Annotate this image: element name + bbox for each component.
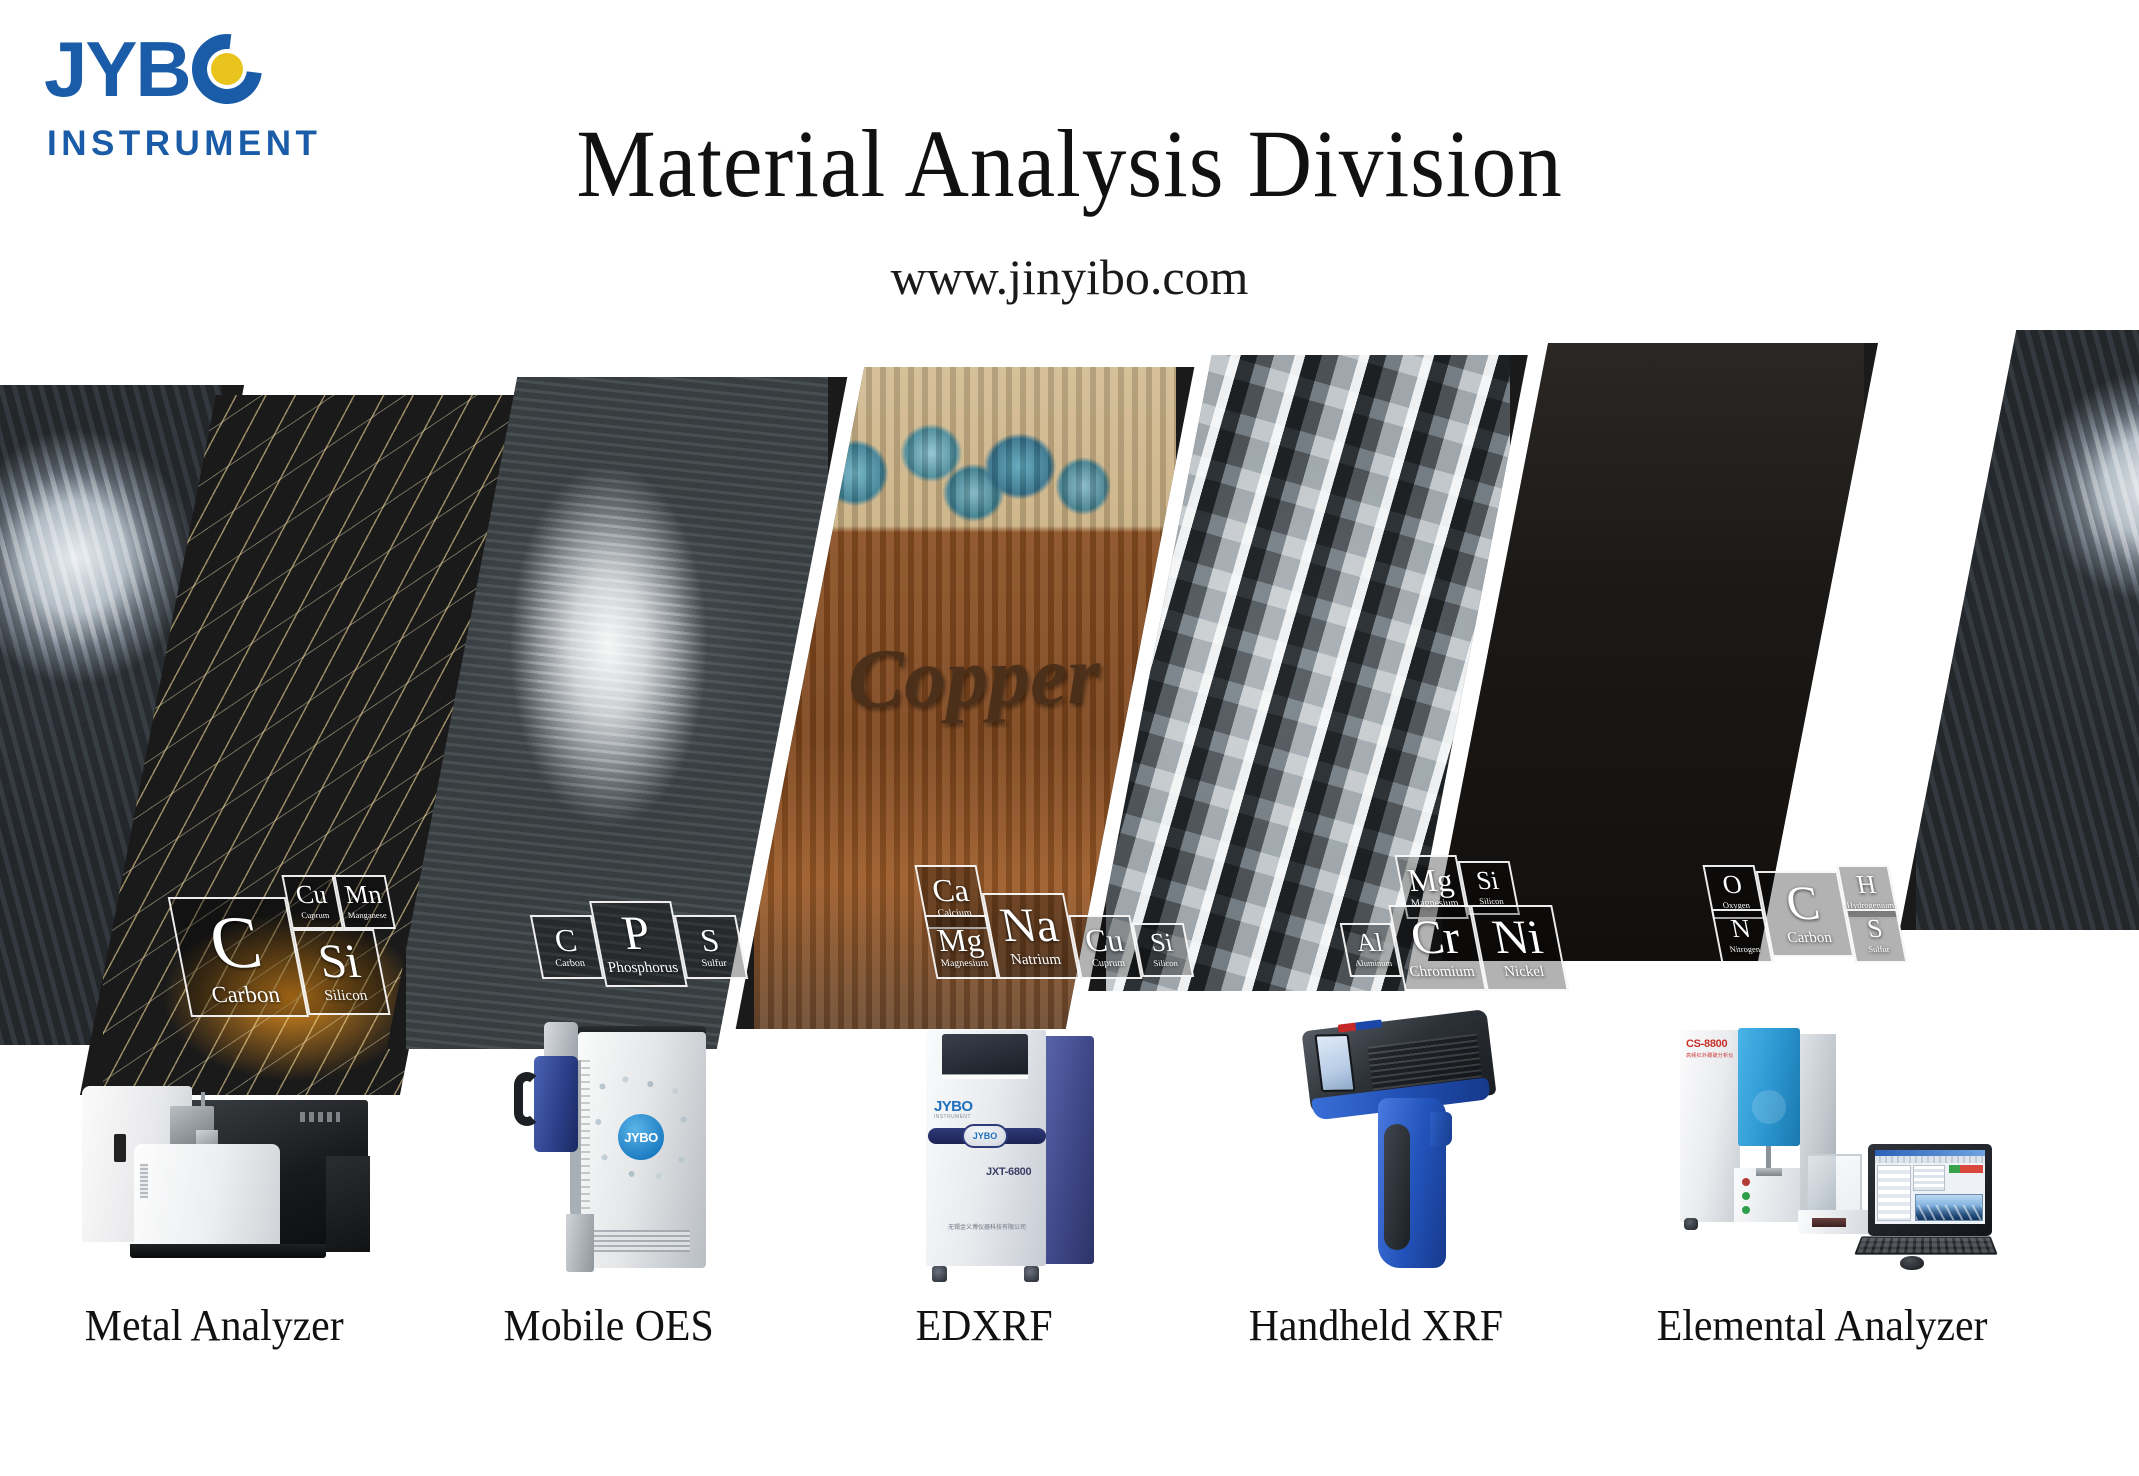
caption-handheld-xrf: Handheld XRF [1249,1300,1503,1351]
product-edxrf: JYBO INSTRUMENT JYBO JXT-6800 无锡金义博仪器科技有… [908,1020,1108,1282]
element-name: Nickel [1503,965,1546,980]
caption-metal-analyzer: Metal Analyzer [85,1300,344,1351]
balance-display [1812,1218,1846,1227]
element-symbol: Na [997,902,1062,950]
oes-probe-body [534,1056,578,1152]
oes-jybo-badge: JYBO [618,1114,664,1160]
elem-led-red [1742,1178,1750,1186]
element-name: Silicon [1153,959,1179,968]
element-symbol: S [698,924,722,956]
photo-industrial-gears-right [1916,330,2139,930]
edxrf-company-label: 无锡金义博仪器科技有限公司 [938,1224,1036,1232]
element-name: Sulfur [1867,945,1890,954]
element-symbol: Mg [1405,864,1456,896]
product-photo-strip: C Carbon Cu Cuprum Mn Manganese Si Silic… [0,385,2139,1085]
element-name: Cuprum [301,911,331,920]
edxrf-printer [942,1034,1028,1078]
oes-pedestal [566,1214,594,1272]
element-symbol: Si [1474,868,1501,894]
xrf-display-screen [1314,1034,1355,1092]
element-name: Manganese [347,911,387,920]
photo-text-copper: Copper [793,626,1155,729]
edxrf-door-button: JYBO [962,1124,1008,1148]
caption-edxrf: EDXRF [916,1300,1053,1351]
element-name: Silicon [323,989,368,1004]
computer-mouse [1900,1256,1924,1270]
element-symbol: Si [1148,930,1175,956]
element-symbol: C [1782,880,1823,928]
element-name: Chromium [1408,965,1476,980]
element-symbol: C [204,906,268,980]
element-card-phosphorus: P Phosphorus [589,901,688,987]
element-name: Phosphorus [607,961,680,976]
element-symbol: S [1865,916,1885,942]
element-name: Nitrogen [1729,945,1761,954]
element-name: Aluminum [1354,959,1392,968]
element-cards-elemental-analyzer: O Oxygen N Nitrogen C Carbon H Hydrogeni… [1702,865,2013,1025]
element-card-carbon: C Carbon [168,897,309,1017]
element-card-nickel: Ni Nickel [1470,905,1569,991]
element-card-silicon: Si Silicon [292,929,391,1015]
xrf-grip-pad [1384,1124,1410,1250]
element-symbol: N [1729,916,1753,942]
edxrf-caster-left [932,1266,947,1282]
jybo-o-ring-icon [178,20,276,118]
computer-keyboard [1854,1236,1997,1254]
analyzer-base-plate [130,1244,326,1258]
software-toolbar [1875,1156,1985,1163]
element-symbol: Mn [343,882,384,908]
edxrf-jybo-sublogo: INSTRUMENT [934,1114,971,1120]
analyzer-front-cover [134,1144,280,1250]
element-symbol: Ca [929,874,971,906]
element-name: Sulfur [701,959,728,969]
element-cards-mobile-oes: C Carbon P Phosphorus S Sulfur [526,897,767,1007]
element-symbol: Si [315,938,364,986]
product-mobile-oes: JYBO [508,1018,728,1288]
analyzer-badge [300,1112,340,1122]
product-metal-analyzer [78,1086,368,1276]
caption-mobile-oes: Mobile OES [504,1300,714,1351]
logo-wordmark-row: JYB [44,28,324,110]
jybo-o-dot-icon [204,47,249,92]
element-name: Magnesium [940,959,989,969]
caption-elemental-analyzer: Elemental Analyzer [1657,1300,1988,1351]
website-url: www.jinyibo.com [0,248,2139,306]
element-card-manganese: Mn Manganese [333,875,395,929]
element-symbol: Cu [294,882,329,908]
elem-model-sublabel: 高频红外碳硫分析仪 [1686,1052,1734,1059]
element-symbol: P [618,910,654,958]
product-elemental-analyzer: CS-8800 高频红外碳硫分析仪 [1672,1020,2002,1282]
xrf-trigger [1430,1112,1452,1146]
element-symbol: H [1854,872,1878,898]
edxrf-paper-slot [942,1074,1028,1079]
element-cards-metal-analyzer: C Carbon Cu Cuprum Mn Manganese Si Silic… [163,875,422,1025]
analyzer-side-port [114,1134,126,1162]
element-symbol: Cu [1082,924,1126,956]
page-title: Material Analysis Division [75,108,2064,219]
element-cards-handheld-xrf: Mg Magnesium Si Silicon Al Aluminum Cr C… [1332,855,1643,1015]
element-card-sulfur: S Sulfur [674,915,748,979]
software-status-buttons [1949,1165,1983,1173]
elem-furnace-pedestal [1756,1168,1782,1176]
elem-led-green-1 [1742,1192,1750,1200]
edxrf-model-label: JXT-6800 [986,1166,1031,1178]
logo-wordmark-text: JYB [44,28,190,110]
software-results-grid [1913,1165,1945,1191]
elem-cabinet-foot [1684,1218,1698,1230]
elem-model-label: CS-8800 [1686,1038,1727,1050]
software-sample-list [1877,1165,1911,1221]
element-symbol: O [1720,872,1744,898]
product-captions: Metal Analyzer Mobile OES EDXRF Handheld… [0,1300,2139,1390]
element-card-silicon: Si Silicon [1132,923,1194,977]
element-symbol: Mg [935,924,986,956]
computer-monitor-screen [1875,1150,1985,1224]
elem-led-green-2 [1742,1206,1750,1214]
element-card-sulfur: S Sulfur [1845,909,1907,963]
marketing-banner: JYB INSTRUMENT Material Analysis Divisio… [0,0,2139,1476]
product-handheld-xrf [1292,1002,1512,1282]
element-cards-edxrf: Ca Calcium Mg Magnesium Na Natrium Cu Cu… [914,865,1225,1025]
element-name: Carbon [1786,931,1833,946]
element-symbol: Ni [1489,914,1546,962]
element-name: Carbon [210,983,282,1006]
edxrf-jybo-logo: JYBO [934,1098,972,1115]
software-spectrum-chart [1915,1194,1983,1221]
element-name: Carbon [555,959,586,969]
balance-draft-shield [1806,1154,1862,1212]
element-symbol: Al [1354,930,1385,956]
element-name: Cuprum [1091,959,1126,969]
panel-gears-right [1900,330,2139,930]
element-card-natrium: Na Natrium [982,893,1081,979]
oes-probe-handle [514,1072,540,1126]
element-symbol: C [552,924,580,956]
oes-bottom-vent [594,1230,690,1252]
edxrf-caster-right [1024,1266,1039,1282]
analyzer-rear-step [326,1156,370,1252]
element-symbol: Cr [1407,914,1464,962]
element-name: Natrium [1010,953,1063,968]
analyzer-vent-grille [140,1164,148,1198]
elem-furnace-cover [1738,1028,1800,1146]
